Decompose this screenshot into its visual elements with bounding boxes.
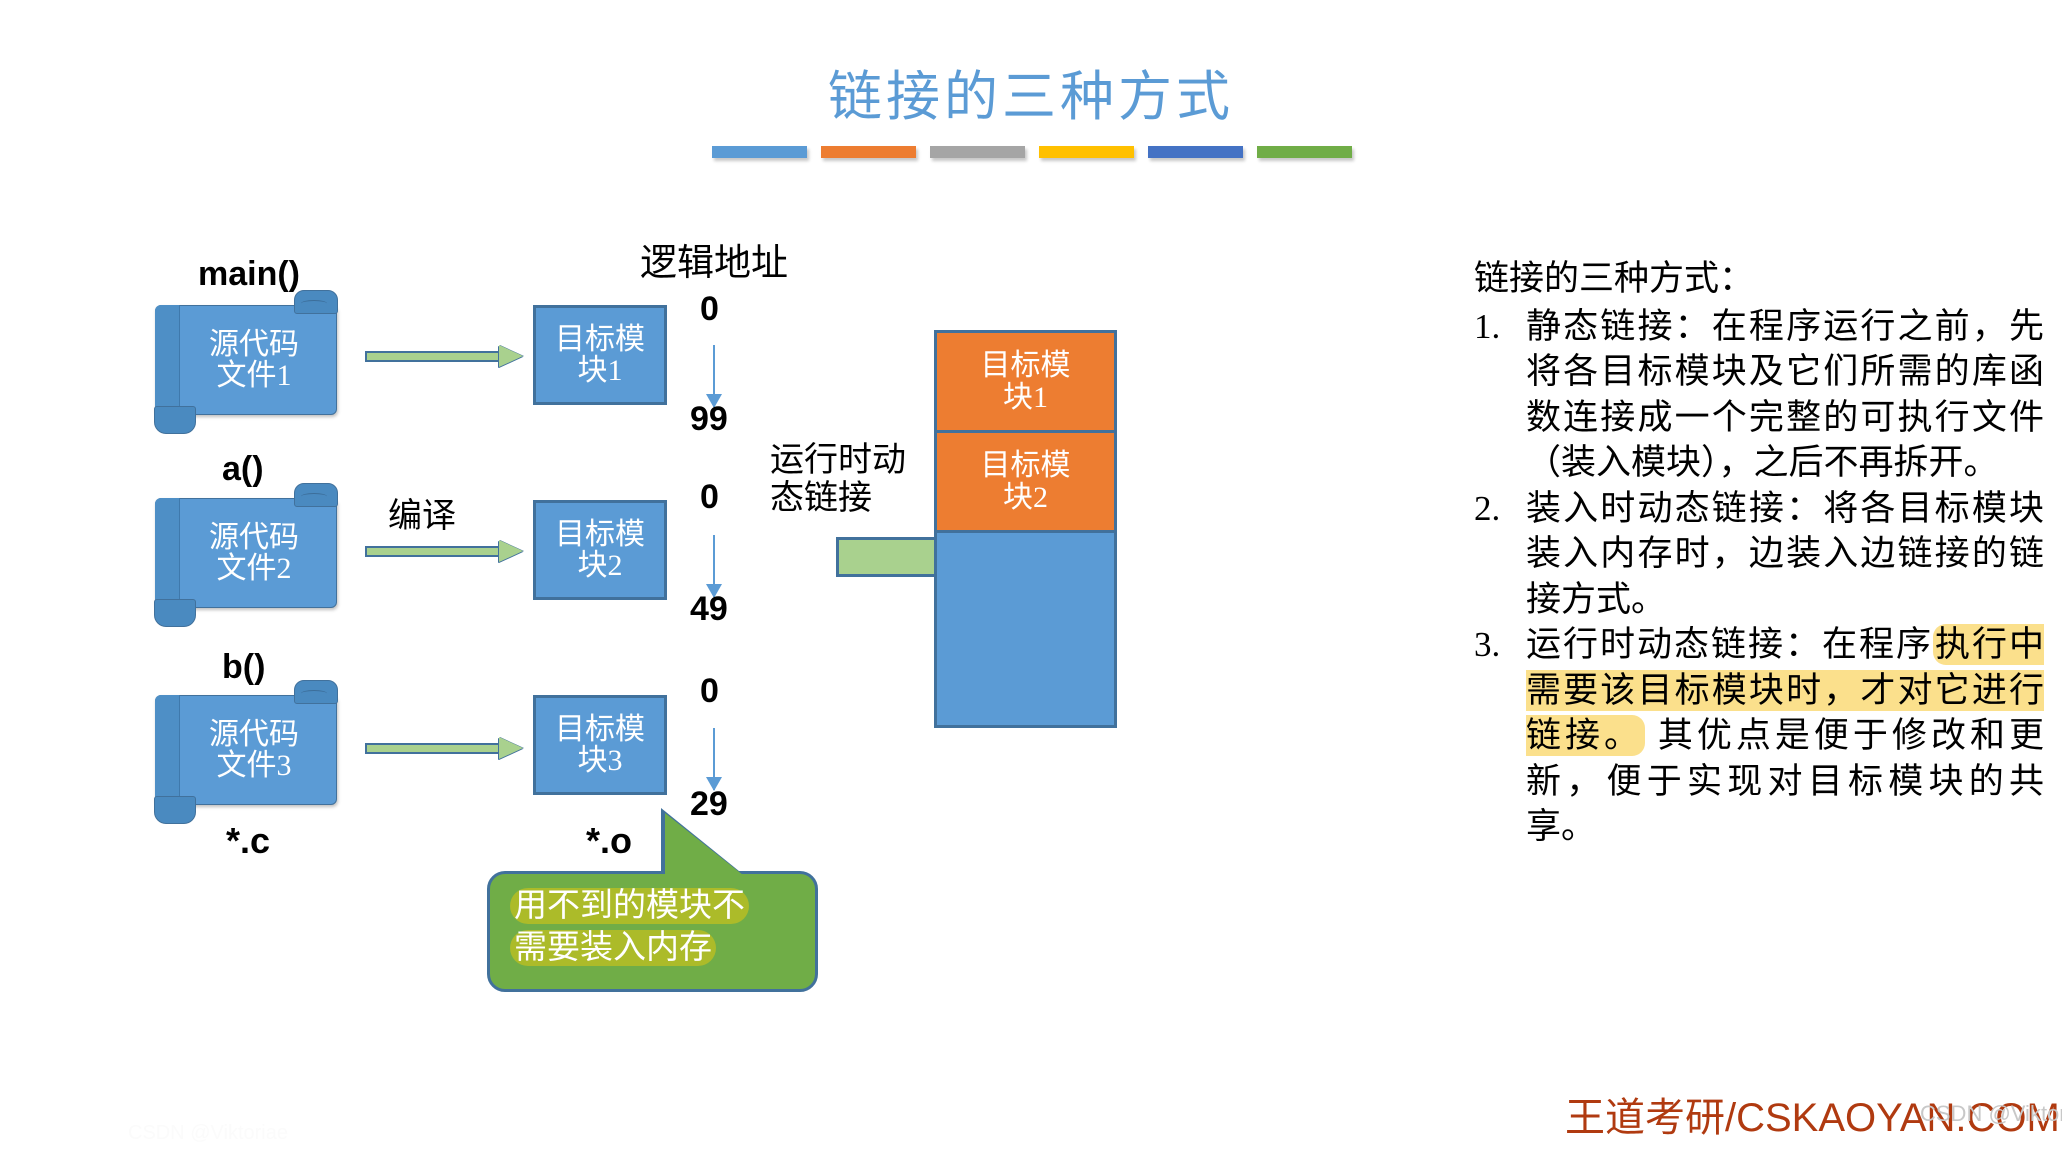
scroll-spine-icon (155, 498, 180, 608)
scroll-curl-bottom-icon (154, 796, 196, 824)
scroll-spine-icon (155, 305, 180, 415)
scroll-spine-icon (155, 695, 180, 805)
memory-cell-label-line2: 块2 (981, 482, 1071, 513)
callout-tail-icon (665, 813, 753, 883)
object-module-label-line1: 目标模 (555, 519, 645, 550)
object-module-label-line2: 块1 (555, 355, 645, 386)
address-end-2: 49 (690, 590, 728, 629)
source-file-label-line2: 文件2 (209, 553, 299, 584)
object-module-box-3: 目标模 块3 (533, 695, 667, 795)
list-item-number: 2. (1474, 486, 1526, 532)
logical-address-header: 逻辑地址 (640, 232, 788, 286)
list-item-text: 静态链接：在程序运行之前，先将各目标模块及它们所需的库函数连接成一个完整的可执行… (1526, 304, 2044, 486)
address-range-arrow-3 (713, 728, 715, 790)
scroll-curl-bottom-icon (154, 599, 196, 627)
memory-cell-label-line1: 目标模 (981, 350, 1071, 381)
source-extension-label: *.c (226, 820, 270, 862)
source-file-label-line1: 源代码 (209, 719, 299, 750)
callout-bubble: 用不到的模块不 需要装入内存 (487, 871, 818, 992)
memory-block: 目标模 块1 目标模 块2 (934, 330, 1117, 728)
address-range-arrow-2 (713, 535, 715, 597)
scroll-curl-top-icon (294, 680, 338, 704)
list-item-text-before: 运行时动态链接：在程序 (1526, 625, 1933, 664)
callout-line1: 用不到的模块不 (510, 888, 749, 924)
source-file-card-2: 源代码 文件2 (155, 498, 337, 608)
object-module-label-line2: 块3 (555, 745, 645, 776)
memory-cell-label-line1: 目标模 (981, 450, 1071, 481)
scroll-curl-top-icon (294, 290, 338, 314)
list-item: 3. 运行时动态链接：在程序执行中需要该目标模块时，才对它进行链接。 其优点是便… (1474, 622, 2044, 850)
object-module-label-line1: 目标模 (555, 324, 645, 355)
object-module-box-1: 目标模 块1 (533, 305, 667, 405)
panel-list: 1. 静态链接：在程序运行之前，先将各目标模块及它们所需的库函数连接成一个完整的… (1474, 304, 2044, 850)
rule-segment-1 (712, 146, 807, 158)
list-item-number: 1. (1474, 304, 1526, 350)
explanation-panel: 链接的三种方式： 1. 静态链接：在程序运行之前，先将各目标模块及它们所需的库函… (1474, 256, 2044, 850)
list-item-text: 运行时动态链接：在程序执行中需要该目标模块时，才对它进行链接。 其优点是便于修改… (1526, 622, 2044, 850)
compile-label: 编译 (388, 488, 456, 537)
memory-cell-module2: 目标模 块2 (937, 433, 1114, 533)
rule-segment-5 (1148, 146, 1243, 158)
list-item: 1. 静态链接：在程序运行之前，先将各目标模块及它们所需的库函数连接成一个完整的… (1474, 304, 2044, 486)
object-module-box-2: 目标模 块2 (533, 500, 667, 600)
list-item-text: 装入时动态链接：将各目标模块装入内存时，边装入边链接的链接方式。 (1526, 486, 2044, 623)
source-file-label-line1: 源代码 (209, 522, 299, 553)
memory-cell-module1: 目标模 块1 (937, 333, 1114, 433)
scroll-curl-top-icon (294, 483, 338, 507)
object-extension-label: *.o (586, 820, 632, 862)
page-title: 链接的三种方式 (0, 52, 2062, 131)
scroll-curl-bottom-icon (154, 406, 196, 434)
func-label-main: main() (198, 255, 300, 294)
title-decor-rule (712, 146, 1352, 162)
runtime-dynamic-link-label: 运行时动 态链接 (770, 442, 906, 518)
list-item-number: 3. (1474, 622, 1526, 668)
memory-cell-label-line2: 块1 (981, 382, 1071, 413)
panel-heading: 链接的三种方式： (1474, 256, 2044, 302)
rule-segment-4 (1039, 146, 1134, 158)
address-start-3: 0 (700, 672, 719, 711)
memory-free-space (937, 533, 1114, 728)
rule-segment-3 (930, 146, 1025, 158)
list-item: 2. 装入时动态链接：将各目标模块装入内存时，边装入边链接的链接方式。 (1474, 486, 2044, 623)
source-file-label-line2: 文件3 (209, 750, 299, 781)
address-start-2: 0 (700, 478, 719, 517)
object-module-label-line2: 块2 (555, 550, 645, 581)
object-module-label-line1: 目标模 (555, 714, 645, 745)
address-end-1: 99 (690, 400, 728, 439)
source-file-label-line1: 源代码 (209, 329, 299, 360)
callout-line2: 需要装入内存 (510, 930, 716, 966)
address-start-1: 0 (700, 290, 719, 329)
csdn-watermark-faint: CSDN @Viktoriae (128, 1122, 288, 1145)
compile-arrow-1 (365, 345, 525, 367)
source-file-label-line2: 文件1 (209, 360, 299, 391)
compile-arrow-3 (365, 737, 525, 759)
rule-segment-6 (1257, 146, 1352, 158)
func-label-b: b() (222, 648, 265, 687)
rule-segment-2 (821, 146, 916, 158)
func-label-a: a() (222, 450, 264, 489)
source-file-card-3: 源代码 文件3 (155, 695, 337, 805)
csdn-watermark: CSDN @Viktoriae (1920, 1101, 2062, 1127)
source-file-card-1: 源代码 文件1 (155, 305, 337, 415)
address-range-arrow-1 (713, 345, 715, 407)
compile-arrow-2 (365, 540, 525, 562)
